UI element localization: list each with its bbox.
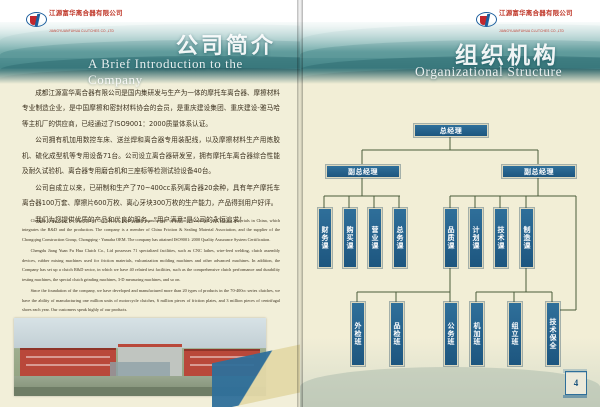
left-page-title-en: A Brief Introduction to the Company	[88, 56, 300, 88]
org-node-dept-quality[interactable]: 品质课	[444, 208, 458, 268]
page-number: 4	[565, 371, 587, 395]
org-node-team-machining[interactable]: 机加班	[470, 302, 484, 366]
org-chart: 总经理 副总经理 副总经理 财务课 购买课 营业课 总务课 品质课 计划课 技术…	[300, 0, 600, 407]
intro-cn-para: 公司自成立以来，已研制和生产了70~400cc系列离合器20余种，具有年产摩托车…	[22, 181, 280, 212]
logo-company-name-cn: 江源富华离合器有限公司	[49, 10, 123, 17]
intro-cn-para: 公司拥有机加用数控车床、送丝焊和离合器专用装配线，以及摩擦材料生产用炼胶机、硫化…	[22, 133, 280, 179]
org-node-dept-technology[interactable]: 技术课	[494, 208, 508, 268]
org-node-team-assembly[interactable]: 组立班	[508, 302, 522, 366]
org-node-deputy-gm-1[interactable]: 副总经理	[326, 165, 400, 178]
intro-cn-para: 成都江源富华离合器有限公司是国内集研发与生产为一体的摩托车离合器、摩擦材料专业制…	[22, 86, 280, 132]
org-node-deputy-gm-2[interactable]: 副总经理	[502, 165, 576, 178]
org-node-dept-manufacturing[interactable]: 制造课	[520, 208, 534, 268]
org-node-dept-planning[interactable]: 计划课	[469, 208, 483, 268]
org-node-dept-general-affairs[interactable]: 总务课	[393, 208, 407, 268]
brochure-spread: 江源富华离合器有限公司 JIANGYUANFUHUA CLUTCHES CO.,…	[0, 0, 600, 407]
org-node-dept-finance[interactable]: 财务课	[318, 208, 332, 268]
company-logo-left: 江源富华离合器有限公司 JIANGYUANFUHUA CLUTCHES CO.,…	[26, 3, 123, 37]
org-node-general-manager[interactable]: 总经理	[414, 124, 488, 137]
company-intro-chinese: 成都江源富华离合器有限公司是国内集研发与生产为一体的摩托车离合器、摩擦材料专业制…	[22, 86, 280, 229]
left-page: 江源富华离合器有限公司 JIANGYUANFUHUA CLUTCHES CO.,…	[0, 0, 300, 407]
company-intro-english: Chengdu Jiang Yuan Fu Hua Clutch Co., Lt…	[22, 216, 280, 328]
org-node-team-public-affairs[interactable]: 公务班	[444, 302, 458, 366]
org-node-team-external-inspection[interactable]: 外检班	[351, 302, 365, 366]
intro-en-para: Chengdu Jiang Yuan Fu Hua Clutch Co., Lt…	[22, 216, 280, 244]
logo-company-name-en: JIANGYUANFUHUA CLUTCHES CO.,LTD	[49, 29, 114, 33]
clutch-logo-icon	[26, 11, 46, 28]
org-node-dept-sales[interactable]: 营业课	[368, 208, 382, 268]
org-node-team-quality-inspection[interactable]: 品检班	[390, 302, 404, 366]
intro-en-para: Since the foundation of the company, we …	[22, 286, 280, 314]
org-node-dept-purchasing[interactable]: 购买课	[343, 208, 357, 268]
org-node-team-technical-maintenance[interactable]: 技术保全	[546, 302, 560, 366]
intro-en-para: Chengdu Jiang Yuan Fu Hua Clutch Co., Lt…	[22, 246, 280, 284]
